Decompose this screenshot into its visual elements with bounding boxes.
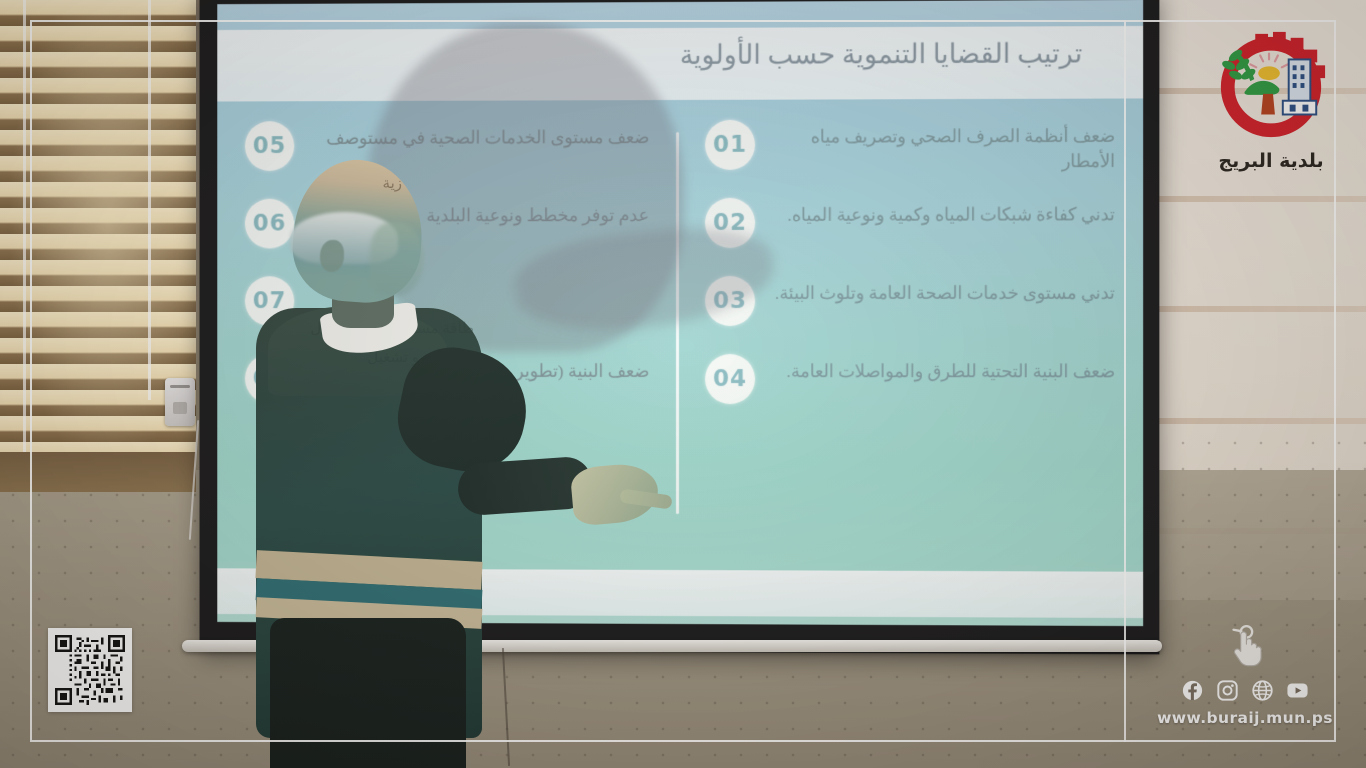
slide-title: ترتيب القضايا التنموية حسب الأولوية: [217, 38, 1082, 72]
presenter-ear: [320, 240, 344, 272]
qr-code-icon: [55, 635, 125, 705]
blind-cord[interactable]: [23, 0, 26, 492]
contact-block: www.buraij.mun.ps: [1140, 624, 1350, 727]
slide-column-right: 01 ضعف أنظمة الصرف الصحي وتصريف مياه الأ…: [677, 113, 1143, 556]
list-item-text: تدني مستوى خدمات الصحة العامة وتلوث البي…: [769, 276, 1115, 306]
buraij-municipality-logo-icon: [1212, 26, 1330, 144]
window-sill: [0, 452, 196, 492]
organization-name: بلدية البريج: [1196, 150, 1346, 172]
projected-text-on-head: زية: [306, 174, 402, 193]
website-url[interactable]: www.buraij.mun.ps: [1140, 709, 1350, 727]
vertical-divider: [1124, 20, 1126, 742]
social-links: [1140, 680, 1350, 701]
list-item: 01 ضعف أنظمة الصرف الصحي وتصريف مياه الأ…: [705, 119, 1115, 182]
list-item: 04 ضعف البنية التحتية للطرق والمواصلات ا…: [705, 354, 1115, 417]
presenter-face: [370, 222, 424, 296]
power-adapter: [165, 378, 195, 426]
qr-code[interactable]: [48, 628, 132, 712]
bullet-number: 01: [705, 120, 755, 170]
website-globe-icon[interactable]: [1252, 680, 1273, 701]
bullet-number: 04: [705, 354, 755, 404]
logo-block: بلدية البريج: [1196, 26, 1346, 186]
presenter-legs: [270, 618, 466, 768]
presenter: طاقة مستدامة الى الاتصال التعليمية و تشغ…: [250, 140, 570, 768]
hand-pointer-icon: [1222, 624, 1268, 670]
screenshot-stage: ترتيب القضايا التنموية حسب الأولوية 05 ض…: [0, 0, 1366, 768]
youtube-icon[interactable]: [1287, 680, 1308, 701]
list-item: 03 تدني مستوى خدمات الصحة العامة وتلوث ا…: [705, 276, 1115, 338]
blind-cord[interactable]: [148, 0, 151, 400]
facebook-icon[interactable]: [1182, 680, 1203, 701]
list-item-text: تدني كفاءة شبكات المياه وكمية ونوعية الم…: [769, 197, 1115, 228]
list-item-text: ضعف البنية التحتية للطرق والمواصلات العا…: [769, 354, 1115, 384]
instagram-icon[interactable]: [1217, 680, 1238, 701]
list-item-text: ضعف أنظمة الصرف الصحي وتصريف مياه الأمطا…: [769, 119, 1115, 175]
